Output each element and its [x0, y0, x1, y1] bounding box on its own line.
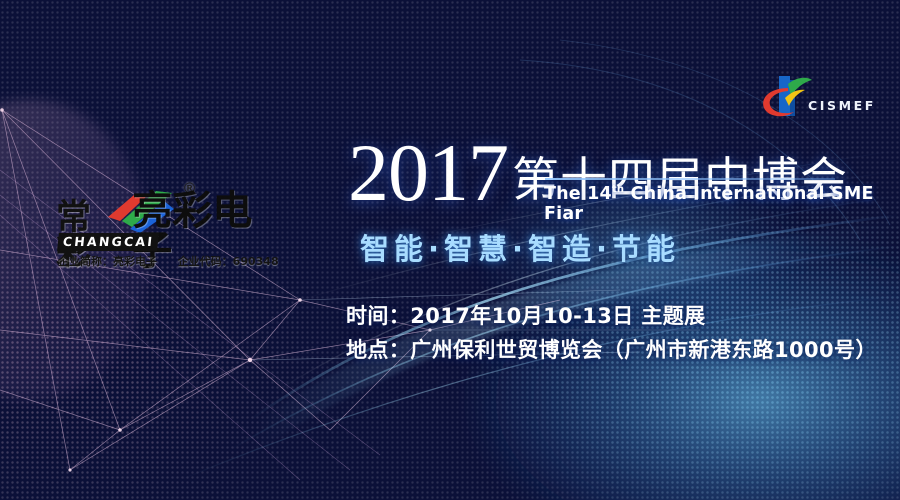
brand-logo: ® 常彩 亮彩电子 CHANGCAI 企业简称：亮彩电子 企业代码：690348: [56, 183, 288, 265]
cismef-logo-text: CISMEF: [808, 98, 876, 113]
cismef-logo: CISMEF: [758, 74, 888, 120]
company-code: 企业代码：690348: [178, 255, 279, 268]
subtitle-prefix: The 14: [544, 184, 612, 204]
event-time-line: 时间：2017年10月10-13日 主题展: [346, 300, 706, 330]
headline-divider: [545, 178, 835, 180]
cismef-emblem-icon: [758, 74, 814, 120]
headline-year: 2017: [348, 139, 508, 206]
company-short-name: 企业简称：亮彩电子: [58, 255, 157, 268]
event-venue-line: 地点：广州保利世贸博览会（广州市新港东路1000号）: [346, 334, 877, 364]
headline-subtitle-en: The 14th China International SME Fiar: [544, 184, 900, 224]
subtitle-ordinal: th: [612, 184, 624, 195]
promotional-banner: ® 常彩 亮彩电子 CHANGCAI 企业简称：亮彩电子 企业代码：690348…: [0, 0, 900, 500]
slogan-text: 智能·智慧·智造·节能: [360, 226, 680, 268]
logo-tagline: 企业简称：亮彩电子 企业代码：690348: [58, 253, 279, 269]
logo-pinyin-text: CHANGCAI: [57, 233, 159, 251]
